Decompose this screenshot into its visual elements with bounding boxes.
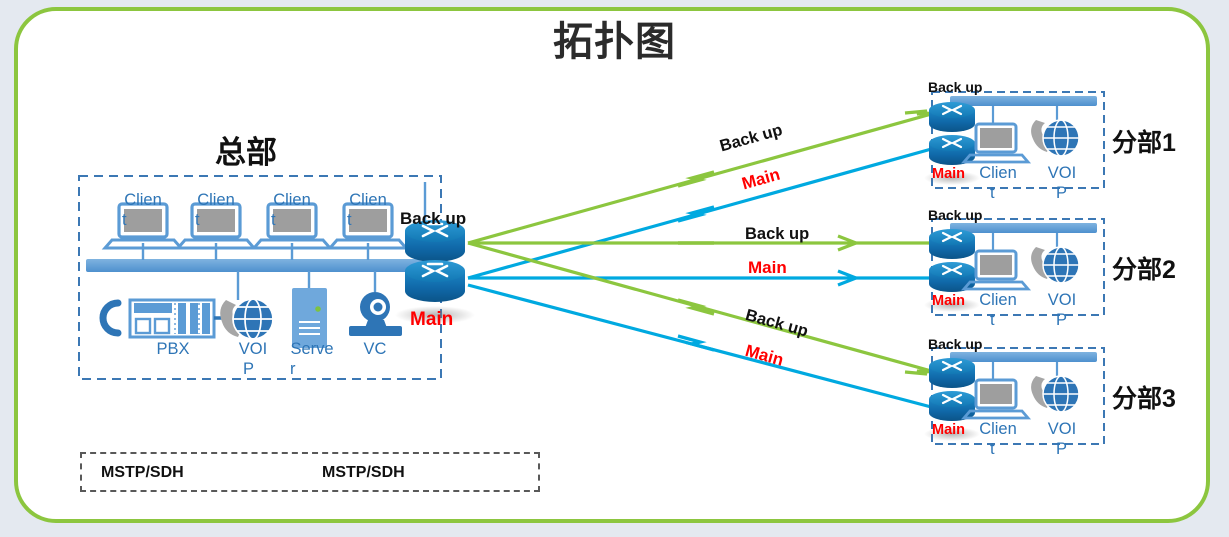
hq-client-3-label: Clien xyxy=(267,192,317,209)
hq-server-icon xyxy=(292,288,327,348)
branch-2-router-main-icon xyxy=(929,262,975,292)
hq-client-2-label-cont: t xyxy=(195,212,200,229)
hq-voip-globe-icon xyxy=(220,299,273,339)
branch-2-client-label-cont: t xyxy=(990,312,995,329)
branch-2-router-backup-icon xyxy=(929,229,975,259)
branch-3-bus-bar xyxy=(950,352,1097,362)
branch-2-bus-bar xyxy=(950,223,1097,233)
link-hq-branch3-backup xyxy=(468,243,935,372)
branch-3-router-main-label: Main xyxy=(932,423,965,438)
hq-client-2-label: Clien xyxy=(191,192,241,209)
branch-3-client-label: Clien xyxy=(976,421,1020,438)
hq-client-laptop-2 xyxy=(178,204,254,248)
hq-router-backup-label: Back up xyxy=(400,210,466,227)
hq-client-4-label-cont: t xyxy=(347,212,352,229)
branch-2-title: 分部2 xyxy=(1112,258,1176,283)
branch-3-voip-globe-icon xyxy=(1031,376,1079,412)
branch-3-router-main-icon xyxy=(929,391,975,421)
hq-pbx-label: PBX xyxy=(148,341,198,358)
branch-1-router-backup-label: Back up xyxy=(928,80,982,94)
branch-2-router-main-label: Main xyxy=(932,294,965,309)
hq-server-label: Serve xyxy=(285,341,339,358)
branch-1-title: 分部1 xyxy=(1112,131,1176,156)
hq-voip-label: VOI xyxy=(228,341,278,358)
page-title: 拓扑图 xyxy=(0,22,1229,62)
branch-1-client-label-cont: t xyxy=(990,185,995,202)
link-hq-branch3-main xyxy=(468,285,935,408)
legend-item-1-label: MSTP/SDH xyxy=(101,465,184,481)
branch-1-router-main-icon xyxy=(929,135,975,165)
hq-client-3-label-cont: t xyxy=(271,212,276,229)
branch-1-voip-label: VOI xyxy=(1040,165,1084,182)
branch-1-client-label: Clien xyxy=(976,165,1020,182)
hq-router-main-label: Main xyxy=(410,310,453,329)
branch-3-client-label-cont: t xyxy=(990,441,995,458)
branch-1-voip-globe-icon xyxy=(1031,120,1079,156)
branch-3-router-backup-label: Back up xyxy=(928,337,982,351)
hq-video-camera-icon xyxy=(349,292,402,336)
branch-1-bus-bar xyxy=(950,96,1097,106)
branch-1-router-main-label: Main xyxy=(932,167,965,182)
branch-1-voip-label-cont: P xyxy=(1056,185,1067,202)
hq-client-1-label-cont: t xyxy=(122,212,127,229)
hq-client-laptop-3 xyxy=(254,204,330,248)
hq-client-1-label: Clien xyxy=(118,192,168,209)
link-hq-branch1-backup xyxy=(468,113,935,243)
branch-2-voip-label: VOI xyxy=(1040,292,1084,309)
hq-client-4-label: Clien xyxy=(343,192,393,209)
hq-title: 总部 xyxy=(215,137,277,168)
link-hq-branch2-backup xyxy=(468,236,935,250)
branch-1-router-backup-icon xyxy=(929,102,975,132)
hq-vc-label: VC xyxy=(352,341,398,358)
branch-3-voip-label: VOI xyxy=(1040,421,1084,438)
hq-voip-label-cont: P xyxy=(243,361,254,378)
branch-2-client-label: Clien xyxy=(976,292,1020,309)
hq-client-laptop-4 xyxy=(330,204,406,248)
link-hq-branch2-main xyxy=(468,271,935,285)
branch-2-voip-globe-icon xyxy=(1031,247,1079,283)
link-branch2-main-label: Main xyxy=(748,259,787,276)
branch-2-router-backup-label: Back up xyxy=(928,208,982,222)
link-branch2-backup-label: Back up xyxy=(745,226,809,243)
hq-bus-bar xyxy=(86,259,426,272)
link-hq-branch1-main xyxy=(468,148,935,278)
hq-server-label-cont: r xyxy=(290,361,296,378)
topology-diagram-canvas: 拓扑图 总部 Clien t Clien t Clien t Clien t P… xyxy=(0,0,1229,537)
branch-2-voip-label-cont: P xyxy=(1056,312,1067,329)
hq-client-laptop-1 xyxy=(105,204,181,248)
hq-pbx-icon xyxy=(103,300,232,337)
hq-router-main-icon xyxy=(405,260,465,302)
branch-3-router-backup-icon xyxy=(929,358,975,388)
branch-3-title: 分部3 xyxy=(1112,387,1176,412)
legend-item-2-label: MSTP/SDH xyxy=(322,465,405,481)
branch-3-voip-label-cont: P xyxy=(1056,441,1067,458)
